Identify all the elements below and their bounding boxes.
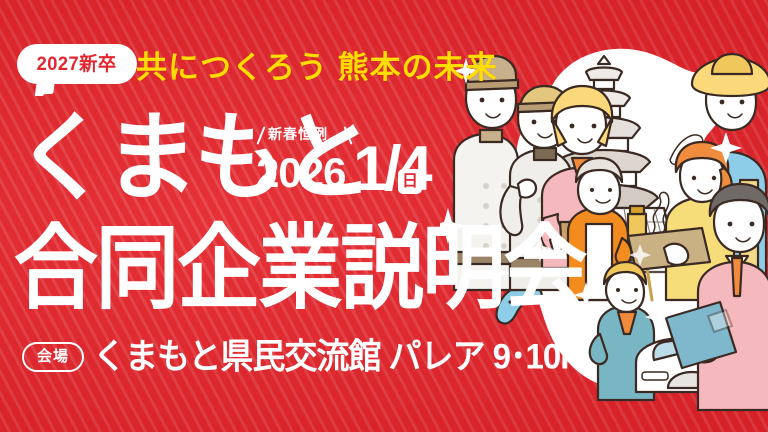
date-block: 新春恒例 2026 1/4 日 xyxy=(250,124,450,216)
kicker-slash-right xyxy=(344,126,353,144)
venue-badge-label: 会場 xyxy=(37,349,69,364)
date-day-of-week-label: 日 xyxy=(402,174,418,190)
new-grad-badge-tail xyxy=(35,80,55,96)
new-grad-badge: 2027新卒 xyxy=(17,44,137,84)
new-grad-badge-label: 2027新卒 xyxy=(37,55,117,74)
date-day-of-week-badge: 日 xyxy=(398,169,422,194)
headline-block: 2027新卒 共につくろう 熊本の未来 くまもと 合同企業説明会 新春恒例 20… xyxy=(0,0,470,432)
catch-copy: 共につくろう 熊本の未来 xyxy=(136,52,498,83)
kicker-slash-left xyxy=(257,126,266,144)
venue-line: 会場 くまもと県民交流館 パレア 9･10F xyxy=(22,340,579,373)
venue-name: くまもと県民交流館 パレア 9･10F xyxy=(93,339,579,374)
date-year: 2026 xyxy=(256,152,345,194)
title-line-2: 合同企業説明会 xyxy=(14,224,585,316)
venue-badge: 会場 xyxy=(22,342,84,372)
event-banner: .ol{fill:none;stroke:#3b2a23;stroke-widt… xyxy=(0,0,768,432)
date-kicker: 新春恒例 xyxy=(268,124,328,144)
